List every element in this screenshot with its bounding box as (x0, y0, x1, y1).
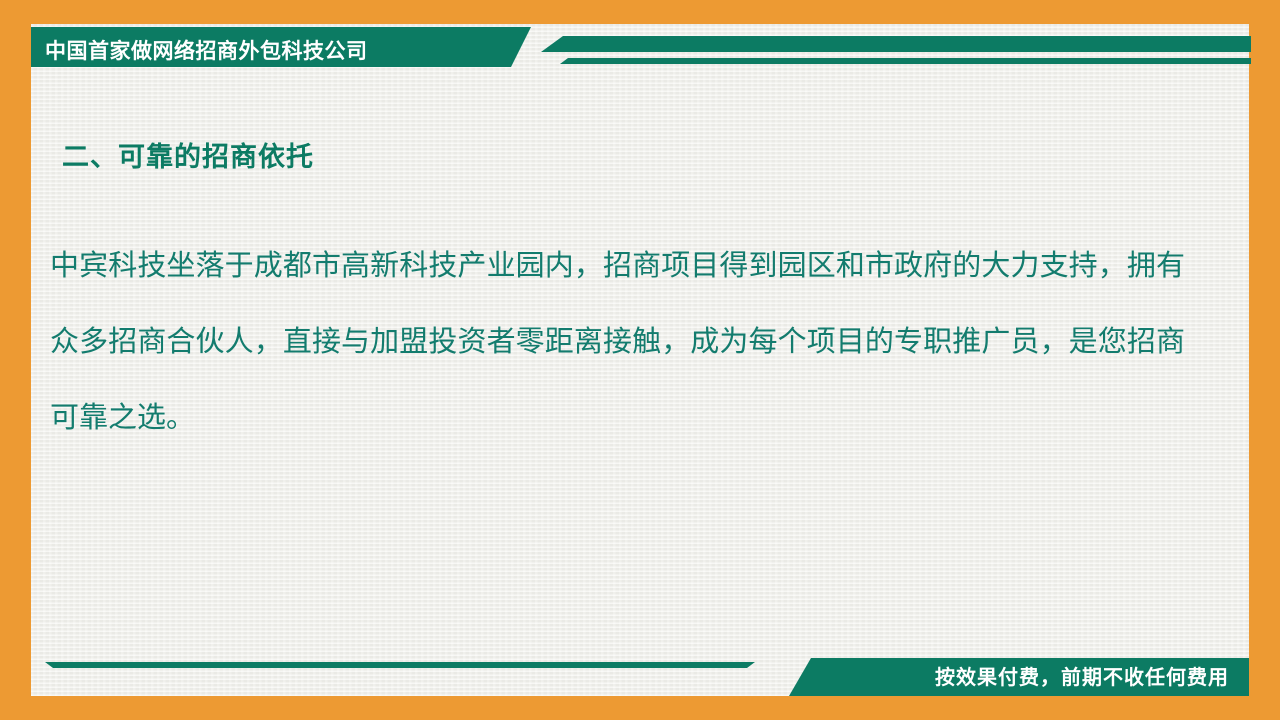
footer-text: 按效果付费，前期不收任何费用 (935, 661, 1229, 690)
header-accent-bar-lower (560, 58, 1251, 64)
header-accent-bar-upper (541, 36, 1251, 52)
section-title: 二、可靠的招商依托 (62, 135, 314, 174)
slide: 中国首家做网络招商外包科技公司 二、可靠的招商依托 中宾科技坐落于成都市高新科技… (0, 0, 1280, 720)
body-paragraph: 中宾科技坐落于成都市高新科技产业园内，招商项目得到园区和市政府的大力支持，拥有众… (50, 228, 1185, 456)
header: 中国首家做网络招商外包科技公司 (31, 27, 1249, 72)
header-title: 中国首家做网络招商外包科技公司 (45, 35, 368, 65)
footer-accent-bar (45, 662, 755, 668)
footer: 按效果付费，前期不收任何费用 (31, 636, 1249, 696)
